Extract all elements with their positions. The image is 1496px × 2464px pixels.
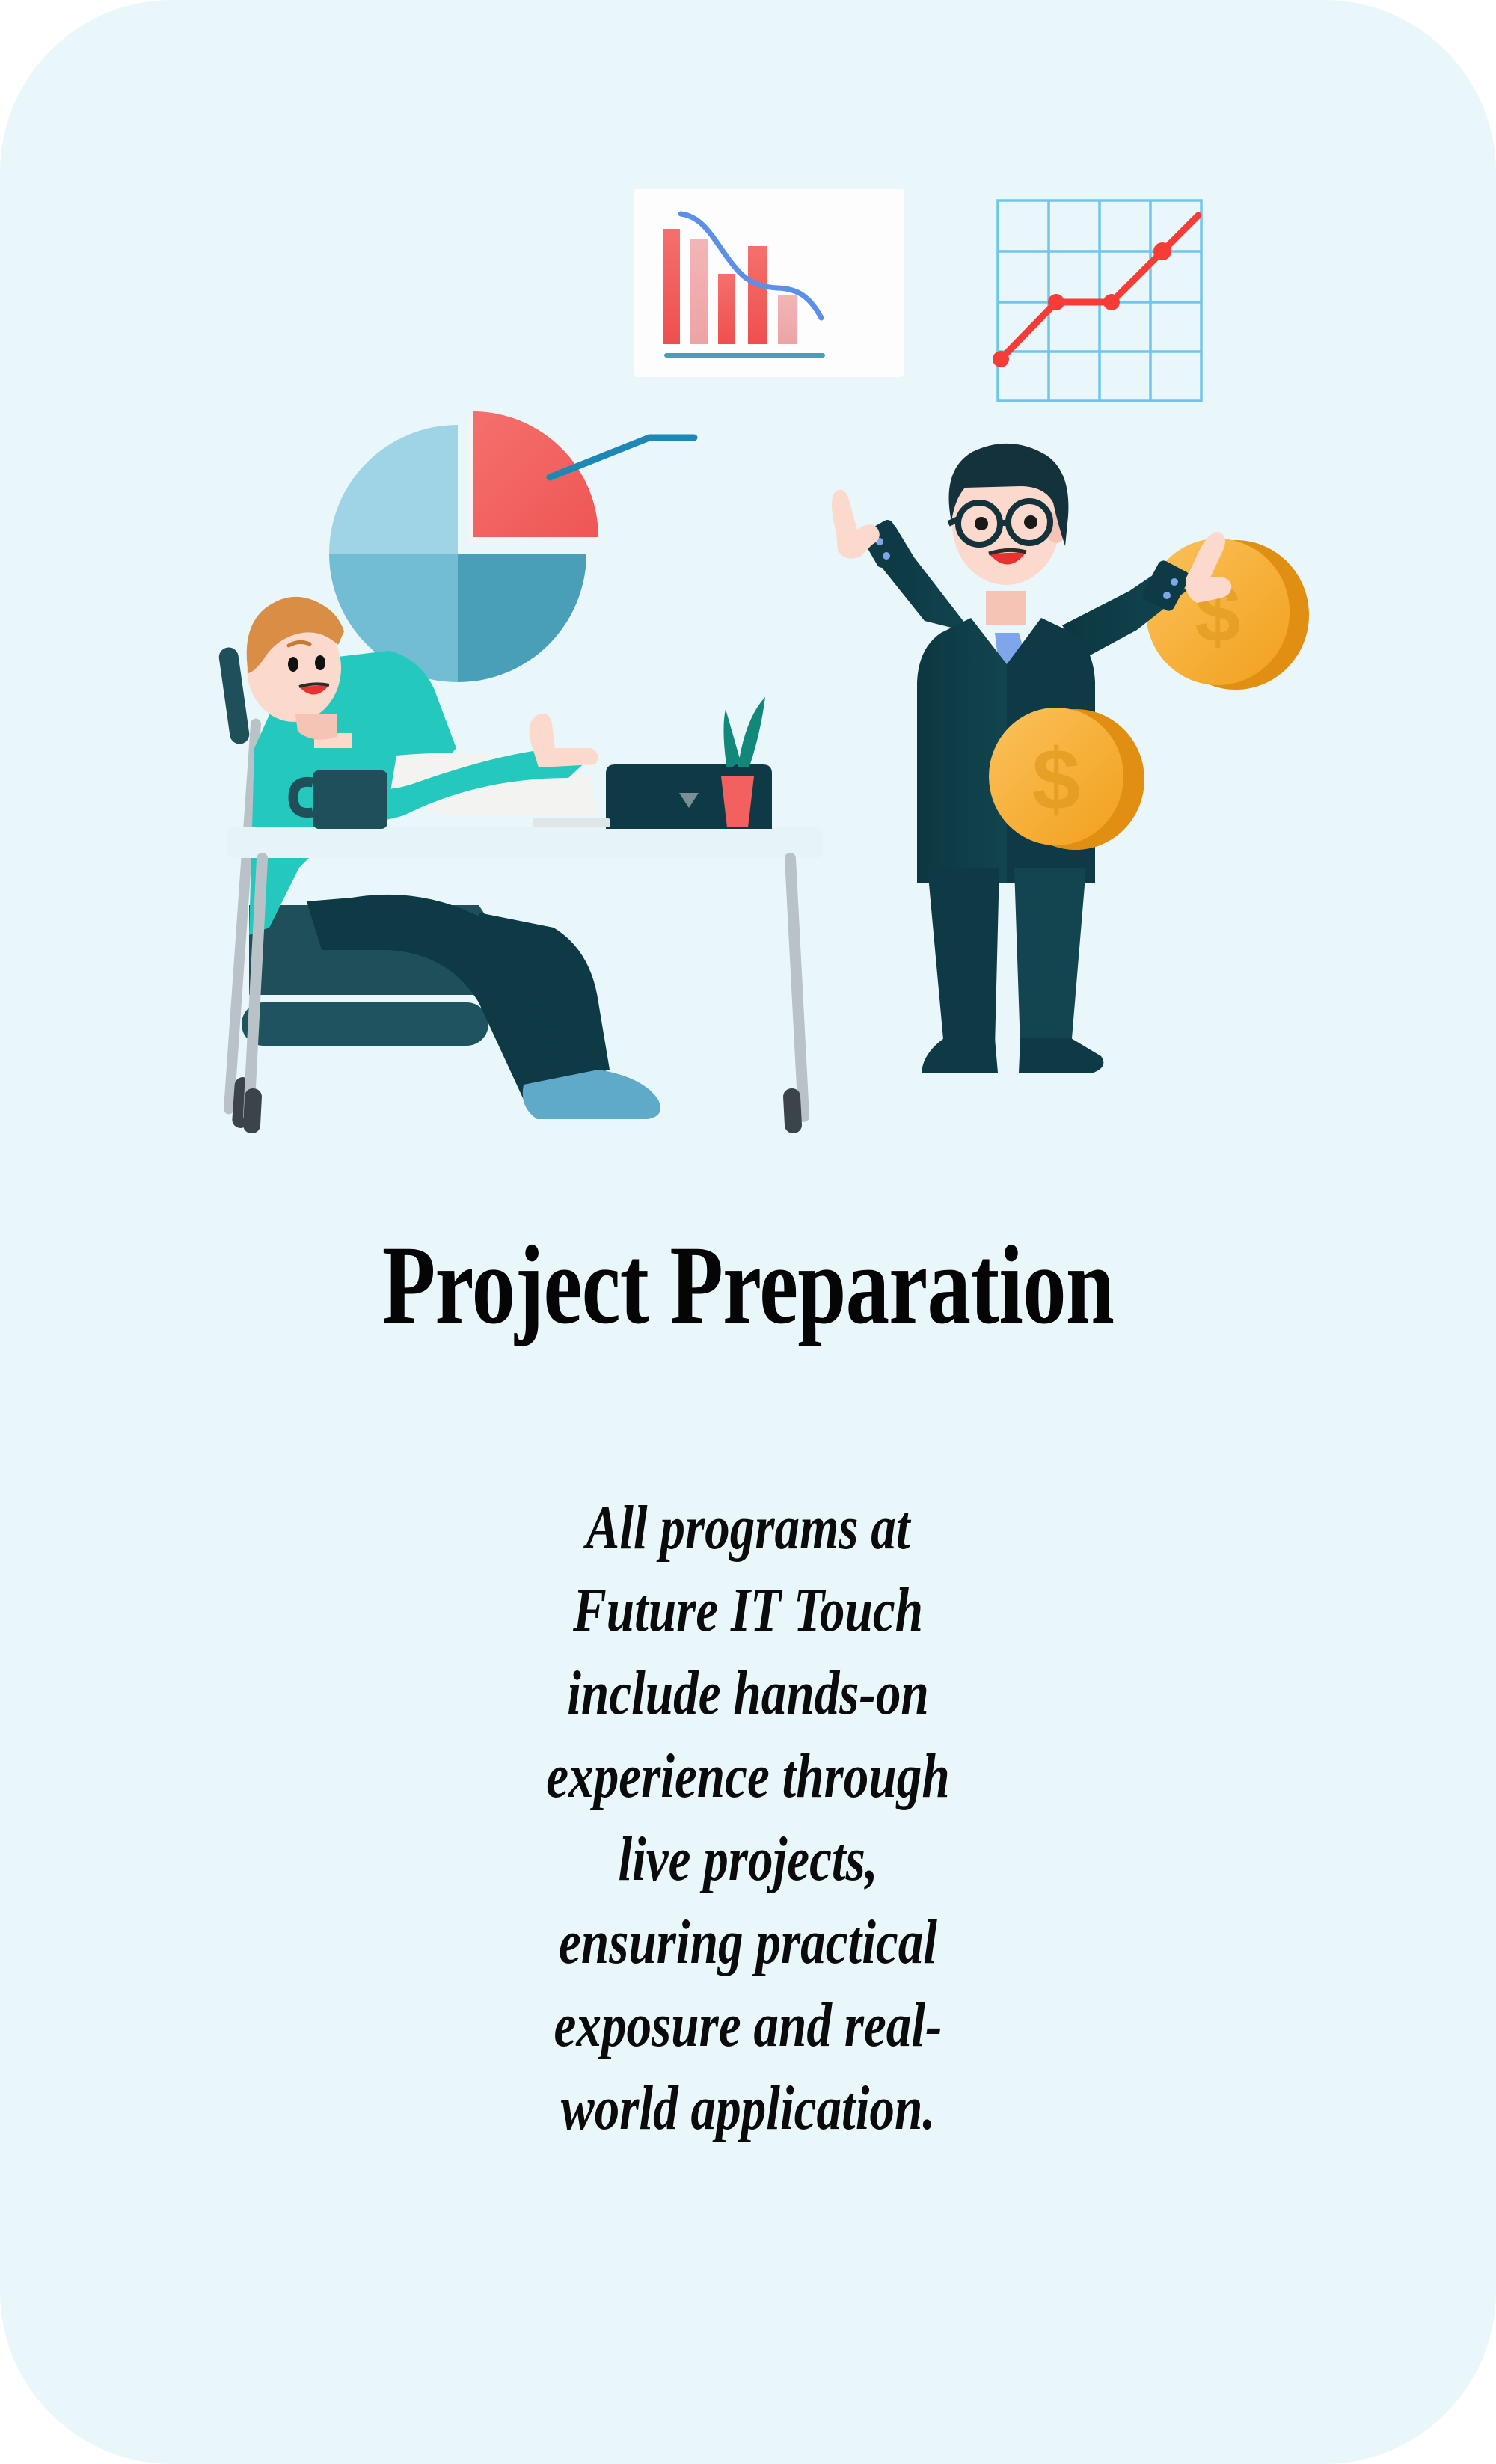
page-title: Project Preparation <box>165 1227 1331 1345</box>
businessman-leg-right <box>1014 868 1086 1047</box>
description-text: All programs at Future IT Touch include … <box>521 1487 975 2151</box>
desk-top <box>227 827 823 858</box>
bar-1 <box>663 229 680 344</box>
business-analytics-illustration: $ <box>0 0 1496 1167</box>
bar-3 <box>718 274 735 344</box>
content-card: $ <box>0 0 1496 2464</box>
pie-slice-b <box>329 425 458 554</box>
bar-chart-card <box>634 189 904 377</box>
worker-hand <box>530 714 598 767</box>
pie-chart <box>329 411 694 682</box>
pie-callout-line <box>550 438 694 477</box>
pie-slice-d <box>458 554 586 682</box>
businessman-shoe-left <box>922 1038 998 1073</box>
dollar-icon: $ <box>1032 731 1081 828</box>
businessman-shoe-right <box>1019 1038 1103 1073</box>
pie-slice-a <box>473 411 598 537</box>
text-block: Project Preparation All programs at Futu… <box>0 1227 1496 2151</box>
plant-leaf-left <box>723 709 741 770</box>
worker-head <box>247 597 352 748</box>
line-chart-grid <box>993 200 1201 401</box>
coin-lower: $ <box>989 708 1144 850</box>
bar-4 <box>748 246 767 344</box>
chart-baseline <box>664 353 825 358</box>
businessman-neck <box>986 591 1026 625</box>
bar-5 <box>778 295 797 344</box>
bar-2 <box>690 239 708 344</box>
coin-upper: $ <box>1146 539 1309 690</box>
businessman-leg-left <box>928 868 999 1047</box>
plant-leaf-right <box>738 697 765 770</box>
standing-businessman: $ <box>832 444 1309 1073</box>
businessman-head <box>948 444 1068 625</box>
seated-worker <box>218 597 823 1134</box>
businessman-jacket <box>917 618 1007 883</box>
